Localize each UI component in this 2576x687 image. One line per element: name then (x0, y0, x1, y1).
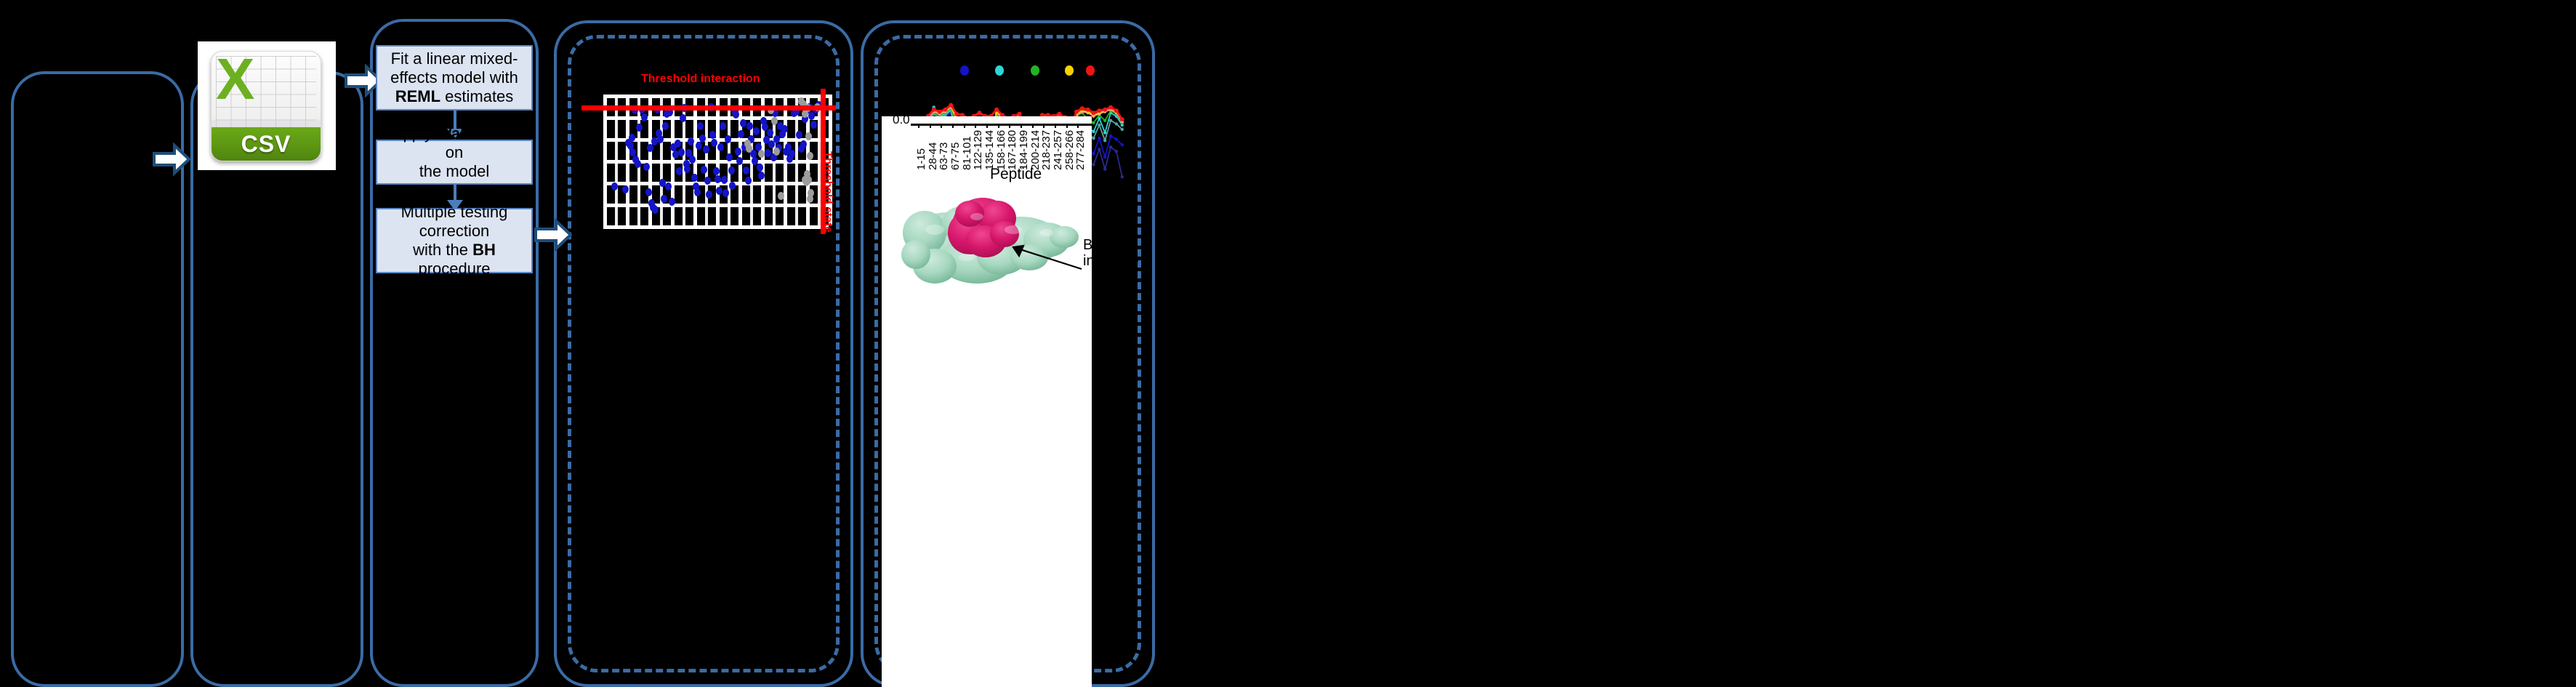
step-mt-suffix: procedure (418, 260, 490, 278)
scatter-point (657, 135, 664, 143)
scatter-point (691, 174, 698, 182)
profile-xtick-mark (930, 124, 931, 128)
scatter-gridline-v (626, 95, 629, 225)
profile-xtick-mark (1043, 124, 1045, 128)
scatter-point (684, 165, 691, 173)
profile-xtick-mark (964, 124, 965, 128)
profile-marker (1103, 167, 1106, 170)
profile-marker (1103, 139, 1106, 142)
profile-marker (1114, 108, 1119, 113)
profile-ytick-0: 0.0 (893, 113, 910, 127)
scatter-point (773, 148, 780, 156)
profile-xtick-labels: 1-1528-4463-7367-7581-101122-129135-1441… (911, 128, 1092, 172)
scatter-point (803, 178, 810, 186)
scatter-gridline-h (603, 225, 829, 229)
profile-marker (1103, 108, 1107, 112)
profile-xtick-mark (998, 124, 999, 128)
profile-x-axis-title: Peptide (990, 166, 1042, 183)
scatter-point (636, 124, 643, 132)
threshold-interaction-line (581, 105, 836, 111)
profile-marker (1092, 152, 1095, 155)
profile-marker (978, 111, 982, 115)
scatter-point (622, 185, 629, 193)
arrow-to-results (534, 218, 572, 252)
scatter-point (699, 134, 706, 142)
scatter-point (715, 175, 721, 183)
arrow-to-csv (153, 142, 190, 176)
profile-xtick-135-144: 135-144 (983, 130, 996, 170)
scatter-gridline-v (761, 95, 765, 225)
step-multiple-testing-text: Multiple testing correction with the BH … (382, 203, 527, 278)
scatter-point (810, 121, 817, 129)
profile-marker (1109, 134, 1112, 137)
scatter-point (796, 131, 802, 139)
step-wald-tests[interactable]: Apply Wald tests on the model parameters (376, 140, 533, 185)
scatter-point (647, 144, 653, 152)
scatter-point (694, 188, 701, 196)
scatter-point (745, 177, 752, 185)
protein-surface-svg (891, 188, 1087, 293)
scatter-point (680, 114, 686, 122)
profile-xtick-63-73: 63-73 (938, 142, 950, 170)
profile-legend (888, 65, 1128, 77)
scatter-point (807, 152, 813, 160)
profile-marker (949, 103, 953, 108)
profile-xtick-184-199: 184-199 (1018, 130, 1030, 170)
profile-marker (954, 112, 959, 116)
profile-xtick-mark (952, 124, 954, 128)
scatter-title: Threshold interaction (641, 73, 760, 86)
profile-legend-dot-series-green (1031, 65, 1039, 76)
scatter-point (729, 182, 736, 190)
profile-marker (1115, 137, 1118, 140)
profile-xtick-mark (1009, 124, 1010, 128)
profile-marker (1121, 128, 1124, 131)
profile-marker (1097, 108, 1101, 113)
profile-xtick-167-180: 167-180 (1006, 130, 1018, 170)
step-fit-model-line-1: Fit a linear mixed- (391, 49, 518, 68)
profile-marker (1103, 119, 1106, 122)
csv-file-icon: X CSV (211, 51, 321, 161)
profile-marker (1074, 110, 1079, 114)
profile-legend-dot-series-red (1086, 65, 1095, 76)
csv-file-card: X CSV (198, 41, 336, 170)
profile-xtick-122-129: 122-129 (972, 130, 984, 170)
profile-marker (1080, 106, 1084, 111)
scatter-tick (818, 95, 821, 225)
profile-marker (1120, 117, 1124, 121)
profile-marker (1109, 145, 1112, 148)
step-mt-line-1: Multiple testing (401, 203, 508, 221)
scatter-plot: Threshold interaction Threshold state (581, 58, 829, 240)
step-multiple-testing[interactable]: Multiple testing correction with the BH … (376, 208, 533, 273)
step-fit-model-suffix: estimates (440, 87, 513, 105)
csv-band-label: CSV (241, 131, 291, 158)
scatter-point (706, 190, 712, 198)
scatter-point (740, 119, 746, 127)
profile-xtick-mark (975, 124, 976, 128)
scatter-point (611, 182, 618, 190)
scatter-point (738, 130, 744, 138)
profile-legend-dot-series-blue (960, 65, 969, 76)
profile-xtick-mark (941, 124, 942, 128)
step-fit-model-line-2: effects model with (390, 68, 518, 87)
profile-xtick-mark (1032, 124, 1034, 128)
profile-marker (1086, 108, 1090, 112)
profile-marker (938, 110, 942, 114)
step-wald-emphasis: Wald tests (437, 124, 516, 142)
scatter-tick (660, 95, 663, 225)
profile-marker (1092, 130, 1095, 133)
scatter-point (696, 142, 702, 150)
profile-xtick-mark (1021, 124, 1022, 128)
protein-structure (891, 188, 1087, 293)
scatter-point (635, 160, 641, 168)
scatter-point (713, 167, 720, 175)
scatter-point (758, 150, 765, 158)
profile-xtick-67-75: 67-75 (949, 142, 962, 170)
binding-interface-label: Binding interface (1083, 237, 1139, 270)
scatter-point (661, 195, 667, 203)
profile-marker (1092, 111, 1096, 115)
profile-marker (1108, 105, 1113, 110)
scatter-point (697, 122, 704, 130)
scatter-point (703, 145, 709, 153)
scatter-point (726, 153, 733, 161)
scatter-point (743, 166, 749, 174)
profile-marker (1115, 150, 1118, 153)
profile-marker (1092, 163, 1095, 166)
profile-xtick-mark (986, 124, 988, 128)
profile-marker (932, 108, 936, 112)
step-mt-emphasis: BH (472, 241, 496, 259)
scatter-point (753, 127, 760, 135)
profile-marker (1109, 119, 1112, 122)
scatter-gridline-v (716, 95, 720, 225)
profile-marker (994, 108, 999, 112)
profile-x-axis-line (911, 124, 1092, 126)
scatter-point (746, 122, 753, 130)
scatter-point (641, 113, 648, 121)
profile-marker (1103, 131, 1106, 134)
scatter-point (645, 188, 652, 196)
step-fit-model-emphasis: REML (395, 87, 440, 105)
scatter-point (678, 148, 685, 156)
scatter-canvas (603, 95, 829, 225)
step-wald-suffix: on (446, 143, 463, 161)
profile-legend-dot-series-yellow (1065, 65, 1074, 76)
scatter-tick (615, 95, 618, 225)
profile-marker (1115, 122, 1118, 125)
profile-xtick-mark (1055, 124, 1056, 128)
step-mt-line-2: correction (419, 222, 490, 240)
scatter-point (688, 137, 694, 145)
profile-marker (1057, 112, 1061, 116)
scatter-point (720, 122, 726, 130)
profile-marker (943, 108, 947, 112)
scatter-point (652, 206, 659, 214)
profile-marker (1098, 148, 1100, 150)
scatter-gridline-v (603, 95, 607, 225)
profile-legend-dot-series-cyan (995, 65, 1004, 76)
scatter-point (717, 143, 724, 151)
profile-marker (1092, 137, 1095, 140)
step-fit-model[interactable]: Fit a linear mixed- effects model with R… (376, 45, 533, 111)
csv-band: CSV (212, 127, 321, 161)
profile-xtick-mark (1066, 124, 1068, 128)
scatter-point (767, 129, 773, 137)
profile-marker (1092, 121, 1095, 124)
profile-xtick-277-284: 277-284 (1074, 130, 1087, 170)
scatter-point (662, 122, 669, 130)
scatter-point (659, 179, 666, 187)
profile-marker (1018, 112, 1022, 116)
profile-marker (1121, 143, 1124, 146)
scatter-point (704, 177, 711, 185)
profile-marker (1098, 137, 1100, 140)
threshold-state-line (821, 89, 826, 234)
profile-xtick-218-237: 218-237 (1040, 130, 1052, 170)
scatter-tick (705, 95, 708, 225)
profile-marker (1121, 175, 1124, 178)
scatter-point (800, 140, 807, 148)
scatter-point (716, 187, 723, 195)
scatter-point (725, 135, 731, 143)
scatter-point (675, 140, 681, 148)
scatter-point (771, 117, 778, 125)
scatter-point (689, 156, 696, 164)
scatter-point (721, 176, 728, 184)
scatter-point (735, 148, 741, 156)
step-wald-prefix: Apply (393, 124, 437, 142)
scatter-point (728, 166, 735, 174)
profile-xtick-241-257: 241-257 (1052, 130, 1064, 170)
step-mt-prefix: with the (413, 241, 472, 259)
scatter-point (807, 195, 813, 203)
excel-x-glyph: X (216, 51, 254, 108)
profile-xtick-mark (918, 124, 919, 128)
profile-marker (1103, 156, 1106, 158)
profile-marker (1098, 124, 1100, 126)
scatter-point (665, 182, 672, 190)
step-fit-model-text: Fit a linear mixed- effects model with R… (390, 49, 518, 106)
profile-xtick-mark (1077, 124, 1079, 128)
profile-xtick-1-15: 1-15 (915, 148, 927, 170)
